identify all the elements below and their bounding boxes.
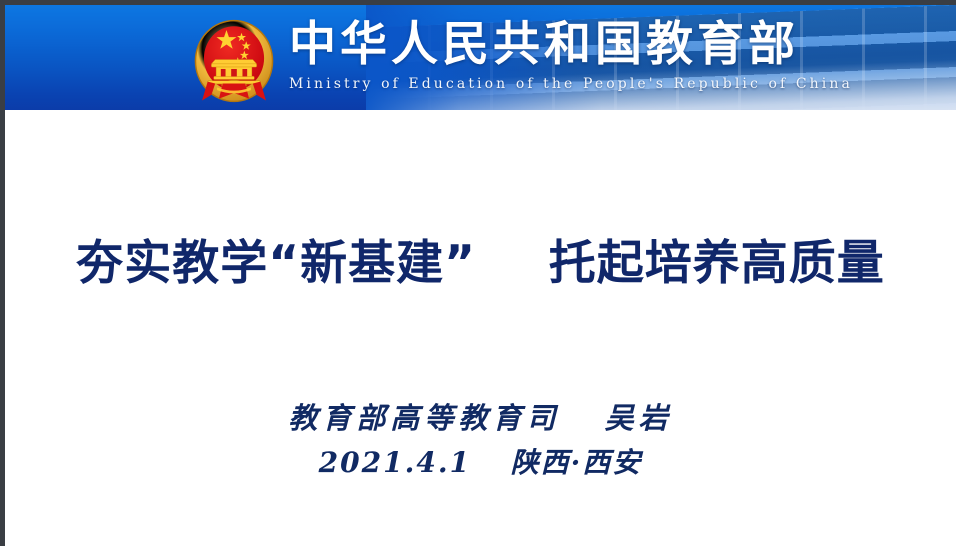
main-title-segment-2: 托起培养高质量	[549, 236, 885, 291]
national-emblem-icon	[187, 14, 281, 108]
presentation-dateline: 2021.4.1 陕西·西安	[5, 444, 956, 482]
slide-main-title: 夯实教学“新基建” 托起培养高质量	[5, 236, 956, 292]
presentation-date: 2021.4.1	[319, 446, 471, 479]
presentation-location: 陕西·西安	[511, 446, 643, 479]
ministry-name-chinese: 中华人民共和国教育部	[289, 17, 853, 73]
ministry-banner: 中华人民共和国教育部 Ministry of Education of the …	[5, 5, 956, 110]
presenter-name: 吴岩	[605, 401, 673, 435]
presenter-byline: 教育部高等教育司 吴岩	[5, 398, 956, 438]
presenter-organization: 教育部高等教育司	[288, 401, 560, 435]
main-title-segment-1: 夯实教学“新基建”	[76, 236, 476, 291]
presentation-slide: 中华人民共和国教育部 Ministry of Education of the …	[0, 0, 956, 546]
ministry-name-english: Ministry of Education of the People's Re…	[289, 75, 853, 93]
banner-title-block: 中华人民共和国教育部 Ministry of Education of the …	[289, 17, 853, 93]
slide-content-area: 夯实教学“新基建” 托起培养高质量 教育部高等教育司 吴岩 2021.4.1 陕…	[5, 110, 956, 546]
